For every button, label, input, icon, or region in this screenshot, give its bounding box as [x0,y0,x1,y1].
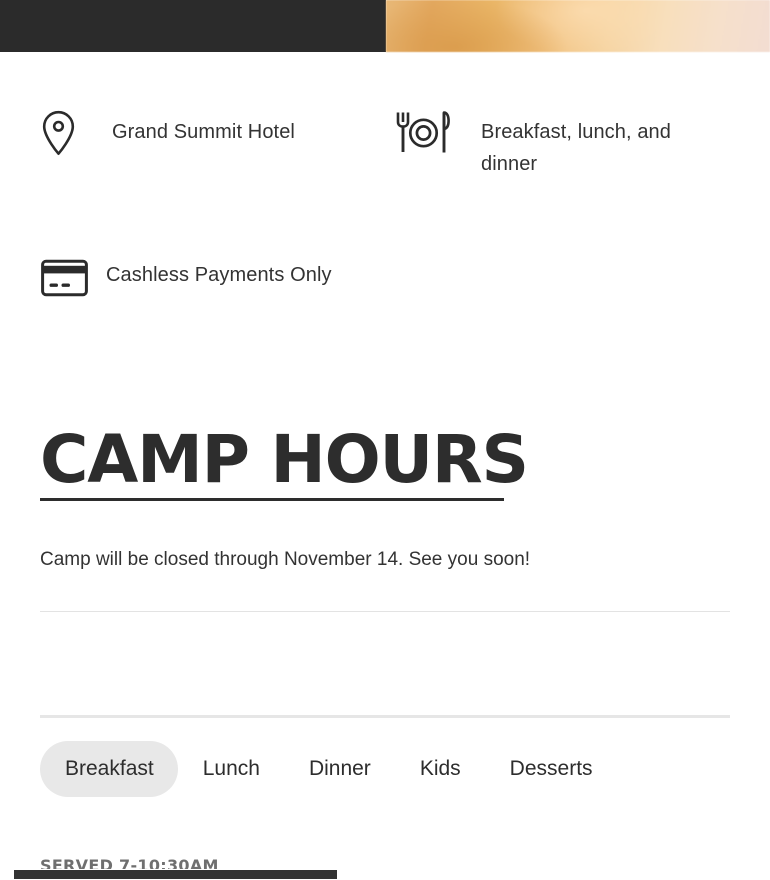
page-title: CAMP HOURS [40,423,528,497]
info-item-meals: Breakfast, lunch, and dinner [385,110,730,180]
closure-notice: Camp will be closed through November 14.… [40,547,530,573]
info-item-location: Grand Summit Hotel [40,110,385,180]
section-divider-bottom [40,715,730,718]
section-divider-top [40,611,730,612]
tab-kids[interactable]: Kids [395,741,485,797]
page-title-block: CAMP HOURS [40,423,528,501]
hero-food-photo [386,0,770,52]
venue-info-grid: Grand Summit Hotel [40,110,730,297]
meal-tabs: Breakfast Lunch Dinner Kids Desserts [40,741,617,797]
menu-page: Grand Summit Hotel [0,0,770,880]
utensils-plate-icon [385,110,452,156]
venue-info-row-1: Grand Summit Hotel [40,110,730,180]
info-item-label: Grand Summit Hotel [112,116,295,148]
tab-desserts[interactable]: Desserts [485,741,617,797]
horizontal-scrollbar-thumb[interactable] [14,870,337,879]
hero-dark-panel [0,0,386,52]
tab-dinner[interactable]: Dinner [284,741,395,797]
credit-card-icon [40,254,88,297]
info-item-label: Breakfast, lunch, and dinner [481,116,721,180]
map-pin-icon [40,110,76,156]
venue-info-row-2: Cashless Payments Only [40,180,730,297]
tab-breakfast[interactable]: Breakfast [40,741,178,797]
page-title-underline [40,498,504,501]
info-item-payments: Cashless Payments Only [40,254,385,297]
tab-lunch[interactable]: Lunch [178,741,284,797]
info-item-label: Cashless Payments Only [106,259,336,291]
hero-banner [0,0,770,52]
